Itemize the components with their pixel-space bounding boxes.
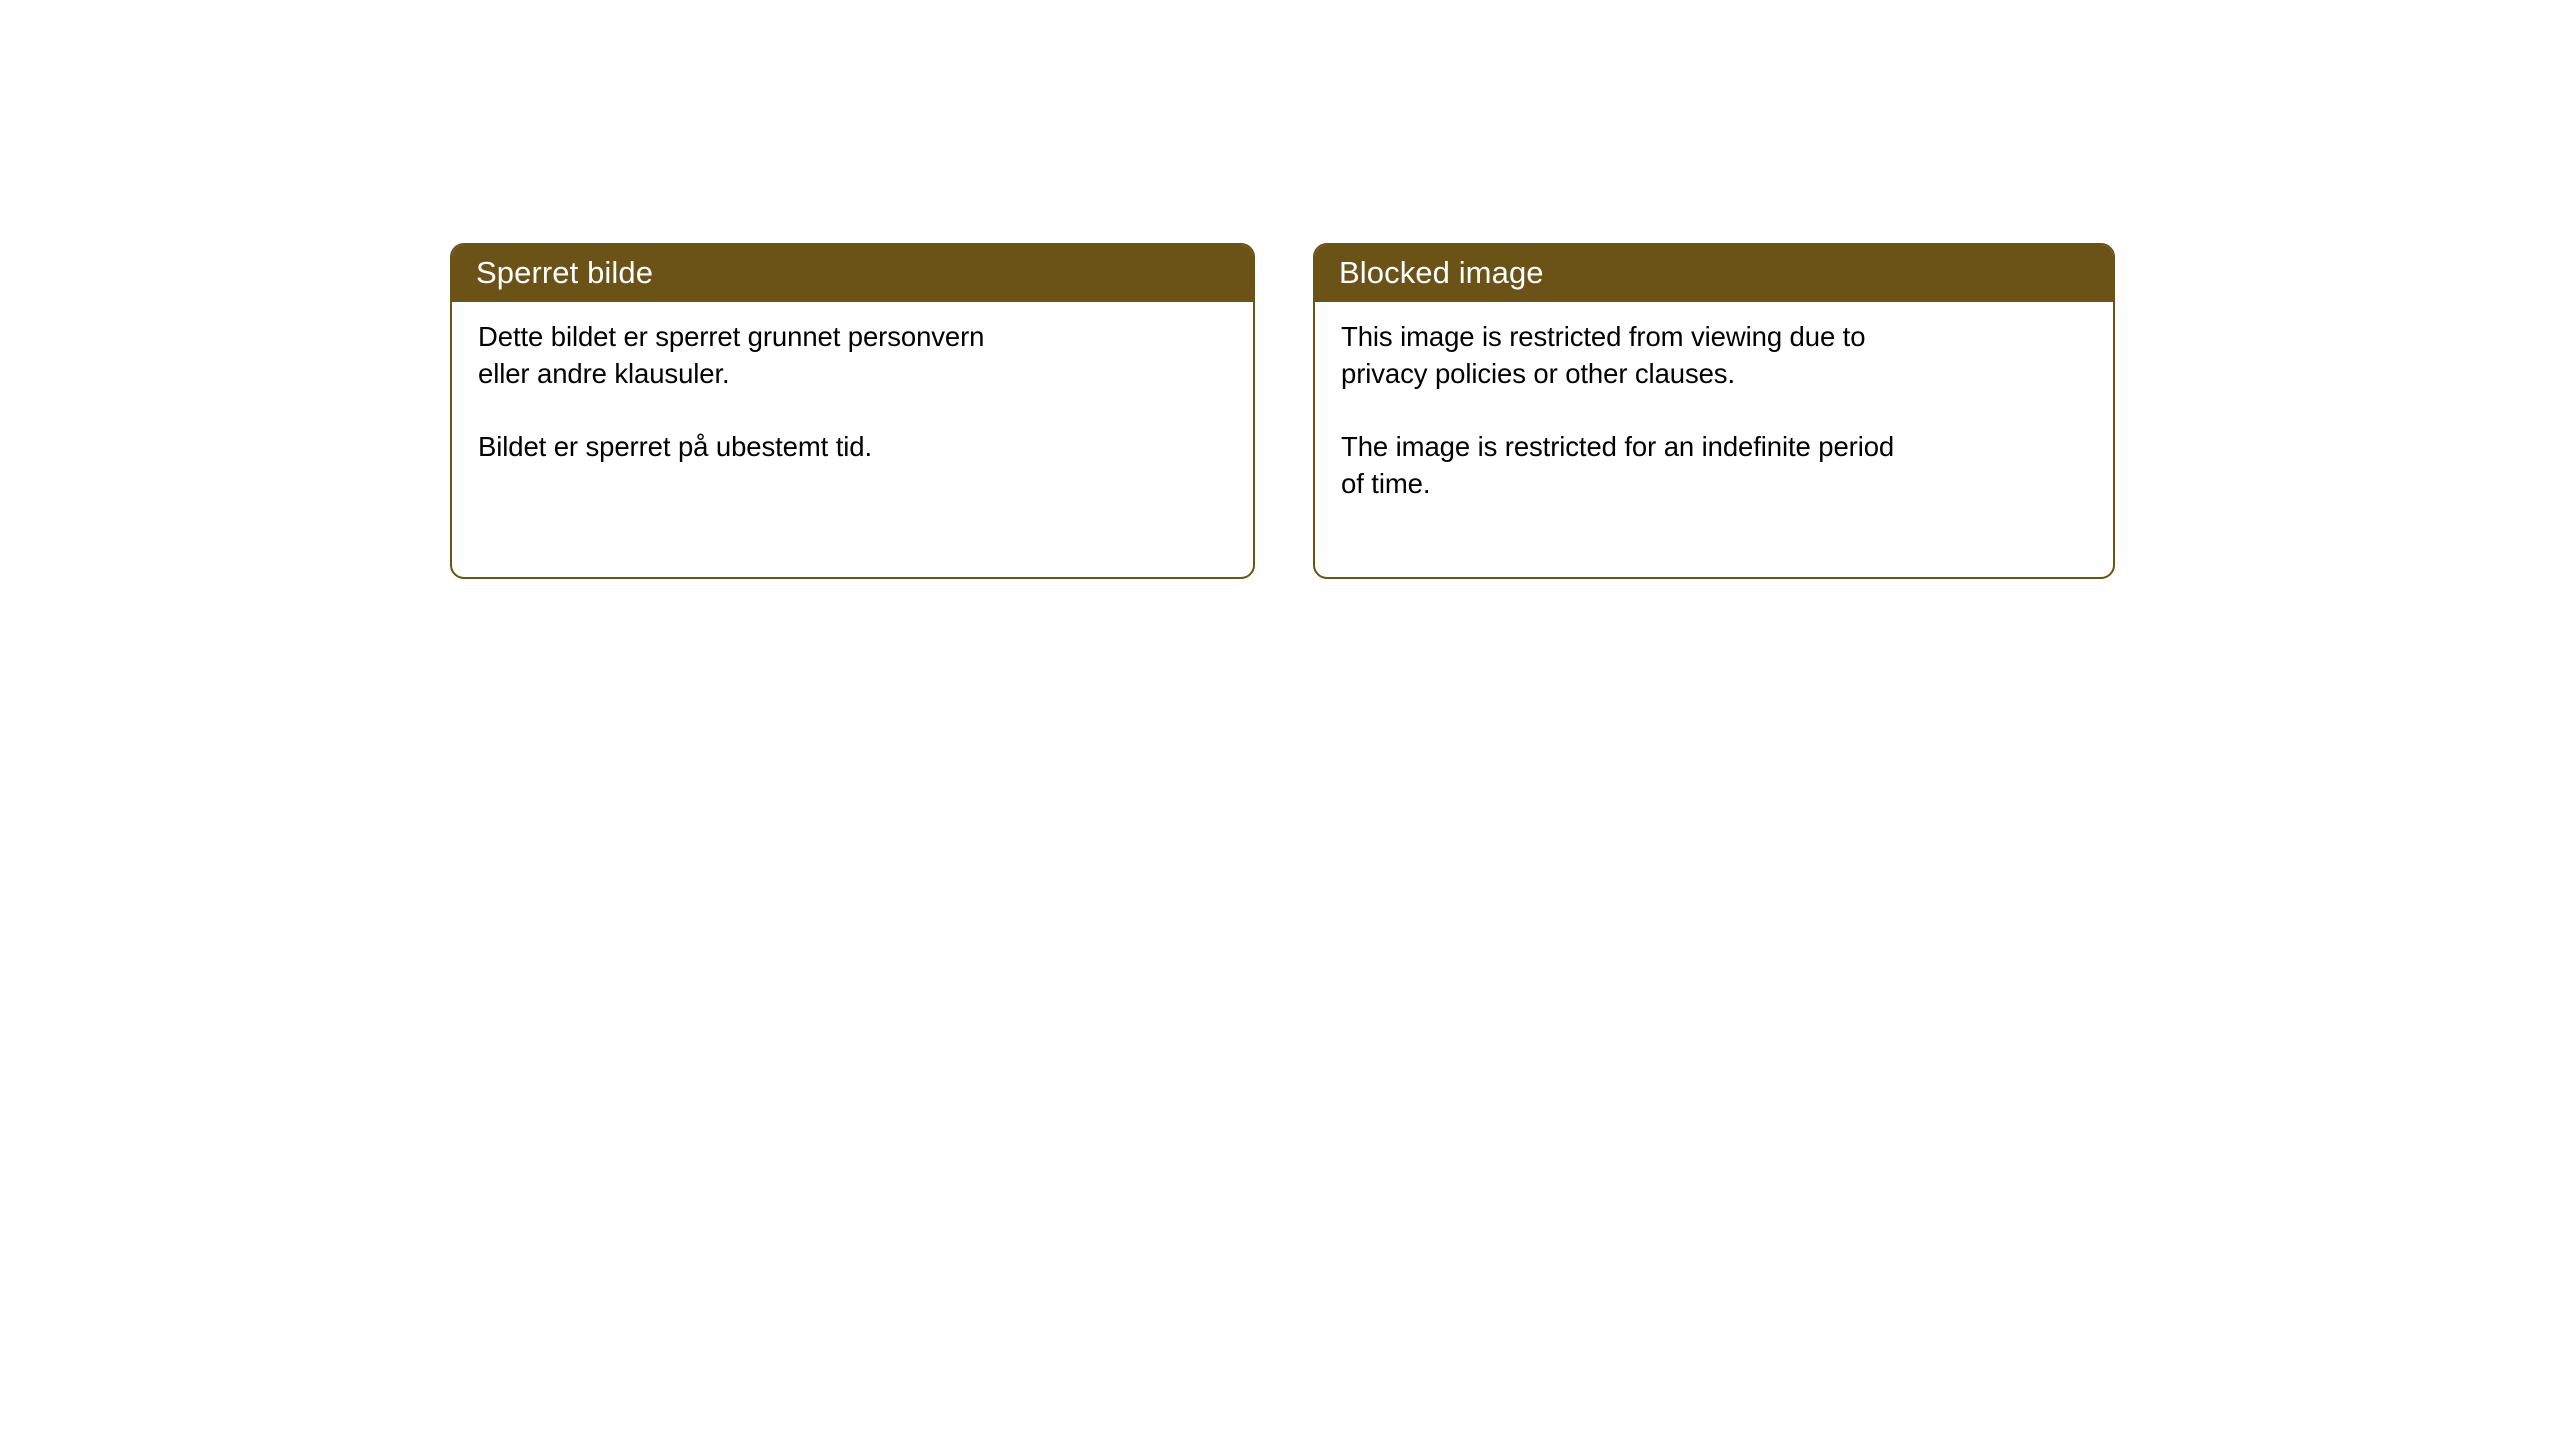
notice-body-english: This image is restricted from viewing du…: [1315, 302, 2113, 503]
paragraph-spacer: [478, 392, 1219, 428]
notice-paragraph-line: privacy policies or other clauses.: [1341, 355, 2079, 392]
notice-body-norwegian: Dette bildet er sperret grunnet personve…: [452, 302, 1253, 465]
notice-paragraph-line: of time.: [1341, 465, 2079, 502]
notice-paragraph-line: The image is restricted for an indefinit…: [1341, 428, 2079, 465]
blocked-image-notice-english: Blocked image This image is restricted f…: [1313, 243, 2115, 579]
page-canvas: Sperret bilde Dette bildet er sperret gr…: [0, 0, 2560, 1440]
notice-paragraph-line: This image is restricted from viewing du…: [1341, 318, 2079, 355]
notice-paragraph-line: eller andre klausuler.: [478, 355, 1219, 392]
blocked-image-notice-norwegian: Sperret bilde Dette bildet er sperret gr…: [450, 243, 1255, 579]
notice-header-english: Blocked image: [1313, 243, 2115, 302]
paragraph-spacer: [1341, 392, 2079, 428]
notice-header-norwegian: Sperret bilde: [450, 243, 1255, 302]
notice-title-english: Blocked image: [1339, 257, 1544, 288]
notice-paragraph-line: Bildet er sperret på ubestemt tid.: [478, 428, 1219, 465]
notice-title-norwegian: Sperret bilde: [476, 257, 653, 288]
notice-paragraph-line: Dette bildet er sperret grunnet personve…: [478, 318, 1219, 355]
